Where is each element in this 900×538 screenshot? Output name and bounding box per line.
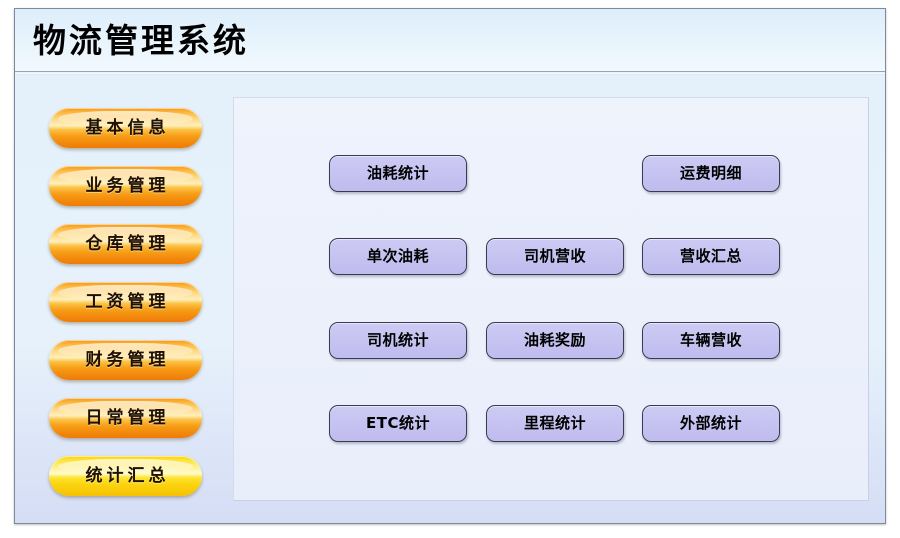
content-tile-9[interactable]: ETC统计 (329, 405, 467, 442)
sidebar-item-label: 仓库管理 (49, 224, 202, 264)
title-bar: 物流管理系统 (15, 9, 885, 72)
sidebar-item-label: 工资管理 (49, 282, 202, 322)
sidebar-item-label: 统计汇总 (49, 456, 202, 496)
sidebar-item-2[interactable]: 业务管理 (49, 166, 202, 206)
content-tile-label: 油耗统计 (330, 156, 466, 191)
content-tile-7[interactable]: 油耗奖励 (486, 322, 624, 359)
sidebar-item-label: 日常管理 (49, 398, 202, 438)
sidebar-item-label: 基本信息 (49, 108, 202, 148)
content-tile-label: ETC统计 (330, 406, 466, 441)
content-panel: 油耗统计运费明细单次油耗司机营收营收汇总司机统计油耗奖励车辆营收ETC统计里程统… (233, 97, 869, 501)
application-window: 物流管理系统 基本信息业务管理仓库管理工资管理财务管理日常管理统计汇总 油耗统计… (14, 8, 886, 524)
sidebar-item-label: 业务管理 (49, 166, 202, 206)
window-body: 基本信息业务管理仓库管理工资管理财务管理日常管理统计汇总 油耗统计运费明细单次油… (15, 75, 885, 524)
sidebar-navigation: 基本信息业务管理仓库管理工资管理财务管理日常管理统计汇总 (15, 75, 233, 524)
sidebar-item-1[interactable]: 基本信息 (49, 108, 202, 148)
sidebar-item-label: 财务管理 (49, 340, 202, 380)
content-tile-label: 司机营收 (487, 239, 623, 274)
content-tile-label: 营收汇总 (643, 239, 779, 274)
content-tile-1[interactable]: 油耗统计 (329, 155, 467, 192)
content-tile-3[interactable]: 单次油耗 (329, 238, 467, 275)
content-tile-10[interactable]: 里程统计 (486, 405, 624, 442)
content-tile-label: 油耗奖励 (487, 323, 623, 358)
content-tile-label: 外部统计 (643, 406, 779, 441)
content-tile-6[interactable]: 司机统计 (329, 322, 467, 359)
content-tile-label: 司机统计 (330, 323, 466, 358)
content-tile-8[interactable]: 车辆营收 (642, 322, 780, 359)
content-tile-5[interactable]: 营收汇总 (642, 238, 780, 275)
page-title: 物流管理系统 (33, 21, 249, 61)
content-tile-2[interactable]: 运费明细 (642, 155, 780, 192)
content-tile-11[interactable]: 外部统计 (642, 405, 780, 442)
content-tile-label: 车辆营收 (643, 323, 779, 358)
sidebar-item-3[interactable]: 仓库管理 (49, 224, 202, 264)
sidebar-item-4[interactable]: 工资管理 (49, 282, 202, 322)
content-tile-4[interactable]: 司机营收 (486, 238, 624, 275)
content-tile-label: 里程统计 (487, 406, 623, 441)
sidebar-item-5[interactable]: 财务管理 (49, 340, 202, 380)
content-tile-label: 单次油耗 (330, 239, 466, 274)
content-tile-label: 运费明细 (643, 156, 779, 191)
sidebar-item-6[interactable]: 日常管理 (49, 398, 202, 438)
sidebar-item-7[interactable]: 统计汇总 (49, 456, 202, 496)
